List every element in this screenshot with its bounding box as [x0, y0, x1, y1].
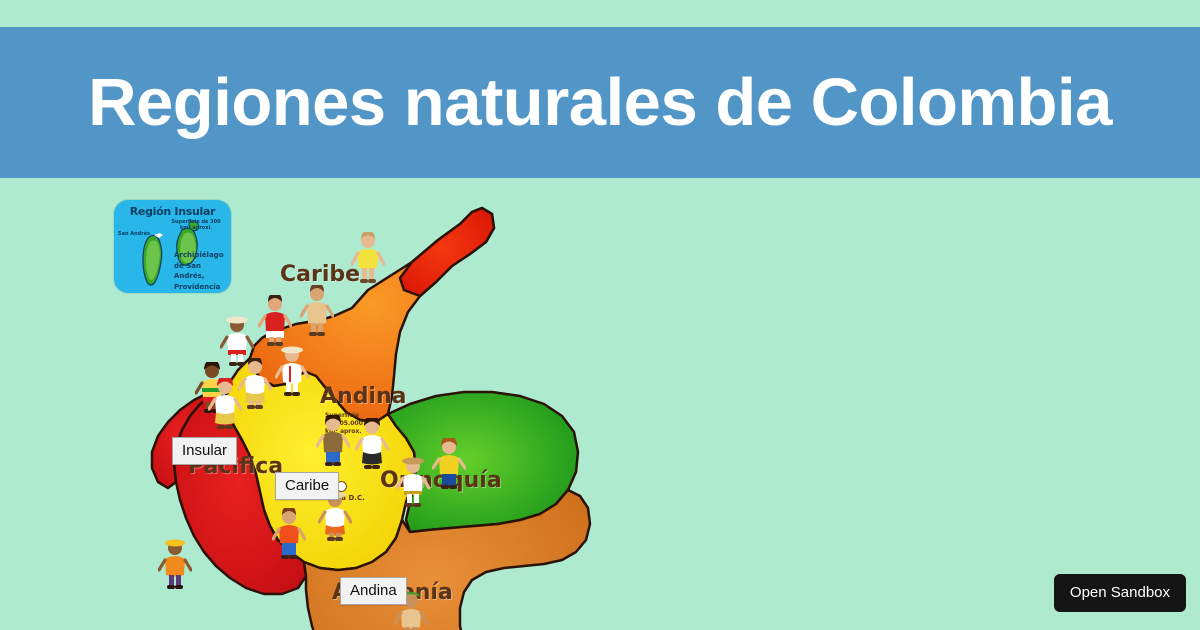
header-banner: Regiones naturales de Colombia [0, 27, 1200, 178]
insular-inset-subtitle: Superficie de 300 km² aproxi. [167, 219, 225, 232]
insular-inset-body-text: Archipiélago de San Andrés, Providencia … [174, 250, 226, 293]
region-label-insular[interactable]: Insular [172, 437, 237, 465]
insular-island-label: San Andrés [118, 231, 150, 237]
open-sandbox-button[interactable]: Open Sandbox [1054, 574, 1186, 612]
map-region-subnote-andina: Superficie de 305.000 km² aprox. [325, 412, 365, 435]
map-stage: Caribe Andina Superficie de 305.000 km² … [0, 178, 1200, 630]
insular-inset-title: Región Insular [114, 205, 231, 218]
insular-region-inset[interactable]: Región Insular Superficie de 300 km² apr… [114, 200, 231, 293]
page-title: Regiones naturales de Colombia [88, 69, 1112, 136]
region-label-caribe[interactable]: Caribe [275, 472, 339, 500]
region-label-andina[interactable]: Andina [340, 577, 407, 605]
